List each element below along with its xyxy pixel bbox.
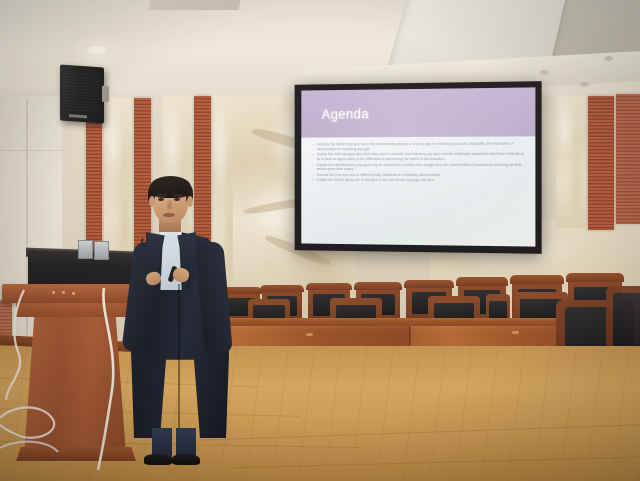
slide-bullet-text: Outline the methodologies that have been… bbox=[317, 152, 527, 161]
podium-hardware bbox=[72, 292, 75, 295]
downlight-icon bbox=[84, 44, 110, 56]
speaker-mount-bracket bbox=[102, 86, 109, 103]
bullet-marker-icon: ▪ bbox=[313, 173, 314, 177]
presenter-nose bbox=[167, 200, 172, 209]
slide-bullet: ▪ Explain how discriminatory pay gaps ma… bbox=[313, 162, 527, 171]
presenter bbox=[126, 176, 234, 458]
projection-screen-surface: Agenda ▪ Describe the factors that give … bbox=[301, 87, 535, 246]
ceiling-fixture-dot bbox=[604, 56, 613, 61]
presenter-mouth bbox=[163, 213, 175, 217]
wall-speaker-icon bbox=[60, 64, 104, 123]
podium-body bbox=[24, 317, 126, 455]
bullet-marker-icon: ▪ bbox=[313, 143, 314, 152]
slide-title: Agenda bbox=[322, 106, 369, 121]
room-photo-scene: Agenda ▪ Describe the factors that give … bbox=[0, 0, 640, 481]
floor-plank-line bbox=[200, 424, 640, 440]
slide-bullet-text: Explain how discriminatory pay gaps may … bbox=[317, 162, 527, 171]
speaker-grille bbox=[65, 73, 99, 113]
ceiling-vent-panel bbox=[149, 0, 241, 10]
slide-bullet: ▪ Explain the factors giving rise to cha… bbox=[313, 178, 527, 183]
ceiling-fixture-dot bbox=[540, 70, 549, 75]
podium-hardware bbox=[52, 291, 55, 294]
projection-screen: Agenda ▪ Describe the factors that give … bbox=[295, 81, 542, 254]
floor-plank-line bbox=[230, 457, 640, 469]
wood-slat-panel bbox=[616, 94, 640, 224]
wood-slat-panel bbox=[588, 96, 614, 230]
table-hardware bbox=[306, 333, 313, 336]
bullet-marker-icon: ▪ bbox=[313, 153, 314, 162]
presenter-eye bbox=[174, 198, 180, 201]
presenter-ear bbox=[149, 196, 155, 207]
presenter-coat-seam bbox=[178, 284, 180, 434]
podium-base bbox=[16, 447, 136, 461]
chair-crest-rail bbox=[306, 283, 351, 290]
presenter-brow bbox=[157, 194, 167, 197]
marble-wall-panel bbox=[556, 96, 586, 228]
ceiling-fixture-dot bbox=[580, 82, 589, 87]
bullet-marker-icon: ▪ bbox=[313, 178, 314, 182]
presenter-eye bbox=[158, 198, 164, 201]
small-monitor-icon bbox=[94, 241, 109, 260]
slide-bullet: ▪ Outline the methodologies that have be… bbox=[313, 152, 527, 161]
slide-header-band: Agenda bbox=[301, 87, 535, 138]
slide-bullet-text: Describe the factors that give rise to t… bbox=[317, 142, 527, 151]
chair-crest-rail bbox=[404, 280, 454, 288]
slide-bullet: ▪ Describe the factors that give rise to… bbox=[313, 142, 527, 151]
chair-back-pad bbox=[613, 293, 640, 353]
speaker-logo bbox=[69, 114, 87, 118]
slide-bullet-text: Discuss the pros and cons of different p… bbox=[317, 173, 441, 177]
wall-seam bbox=[0, 150, 62, 151]
slide-bullet: ▪ Discuss the pros and cons of different… bbox=[313, 173, 527, 178]
bullet-marker-icon: ▪ bbox=[313, 163, 314, 172]
chair-crest-rail bbox=[456, 277, 508, 285]
podium-neck bbox=[16, 303, 132, 317]
table-hardware bbox=[512, 331, 519, 334]
small-monitor-icon bbox=[78, 240, 93, 259]
presenter-shoe bbox=[144, 454, 172, 465]
chair-crest-rail bbox=[566, 273, 624, 282]
presenter-shoe bbox=[172, 454, 200, 465]
chair-crest-rail bbox=[354, 282, 402, 290]
chair-crest-rail bbox=[260, 285, 303, 292]
chair-back-pad bbox=[489, 301, 507, 320]
slide-bullet-text: Explain the factors giving rise to chang… bbox=[317, 178, 435, 183]
presenter-ear bbox=[187, 196, 193, 207]
podium-hardware bbox=[62, 291, 65, 294]
chair-crest-rail bbox=[510, 275, 564, 284]
slide-body: ▪ Describe the factors that give rise to… bbox=[301, 137, 535, 247]
presenter-brow bbox=[173, 194, 183, 197]
presentation-slide: Agenda ▪ Describe the factors that give … bbox=[301, 87, 535, 246]
